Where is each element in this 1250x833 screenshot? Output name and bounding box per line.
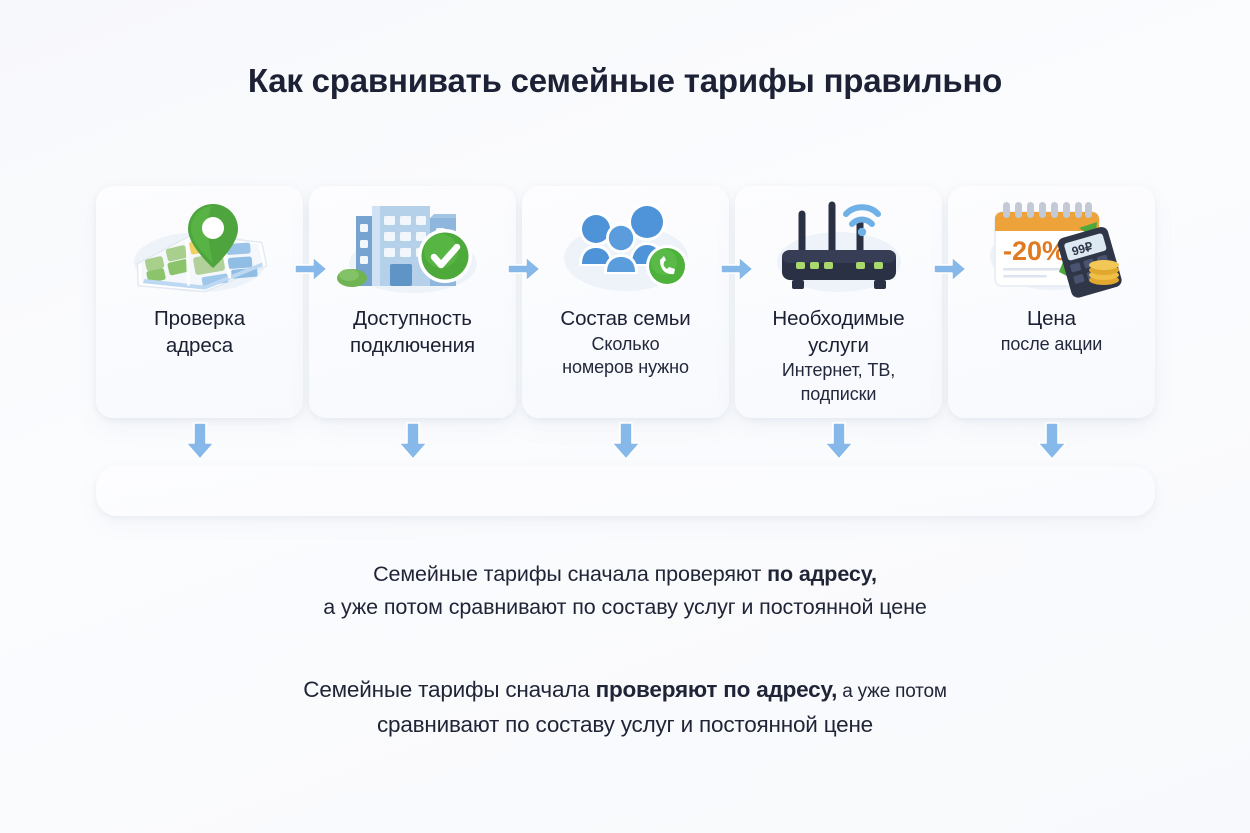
step-card-family-text: Состав семьи Сколько номеров нужно (528, 306, 724, 379)
arrow-down-icon-4 (822, 421, 856, 461)
step-card-price-text: Цена после акции (954, 306, 1150, 356)
svg-text:-20%: -20% (1003, 236, 1066, 266)
step-card-services-text: Необходимые услуги Интернет, ТВ, подписк… (741, 306, 937, 406)
card-title-line2: подключения (315, 333, 511, 360)
page-title: Как сравнивать семейные тарифы правильно (0, 62, 1250, 100)
router-wifi-icon (754, 194, 924, 302)
arrow-down-icon-1 (183, 421, 217, 461)
family-phone-icon (541, 194, 711, 302)
calendar-discount-icon: -20% 99₽ (967, 194, 1137, 302)
map-pin-icon (115, 194, 285, 302)
arrow-down-icon-2 (396, 421, 430, 461)
card-title-line1: Состав семьи (528, 306, 724, 333)
summary-a-line1: Семейные тарифы сначала проверяют по адр… (0, 558, 1250, 591)
steps-row: Проверка адреса (96, 186, 1155, 418)
summary-a-line2: а уже потом сравнивают по составу услуг … (0, 591, 1250, 624)
summary-a-line1-plain: Семейные тарифы сначала проверяют (373, 562, 767, 586)
card-sub-line1: Сколько (528, 333, 724, 356)
card-title-line1: Необходимые (741, 306, 937, 333)
arrow-down-icon-3 (609, 421, 643, 461)
step-card-services[interactable]: Необходимые услуги Интернет, ТВ, подписк… (735, 186, 942, 418)
summary-b-tail: а уже потом (837, 681, 947, 702)
summary-bar[interactable] (96, 466, 1155, 516)
card-sub-line1: после акции (954, 333, 1150, 356)
summary-b-strong: проверяют по адресу, (596, 677, 838, 702)
card-sub-line1: Интернет, ТВ, (741, 359, 937, 382)
card-sub-line2: подписки (741, 383, 937, 406)
card-title-line1: Проверка (102, 306, 298, 333)
building-check-icon (328, 194, 498, 302)
summary-b-line2: сравнивают по составу услуг и постоянной… (225, 707, 1025, 742)
card-title-line2: услуги (741, 333, 937, 360)
step-card-family[interactable]: Состав семьи Сколько номеров нужно (522, 186, 729, 418)
step-card-availability-text: Доступность подключения (315, 306, 511, 359)
step-card-address-text: Проверка адреса (102, 306, 298, 359)
step-card-price[interactable]: -20% 99₽ (948, 186, 1155, 418)
step-card-address[interactable]: Проверка адреса (96, 186, 303, 418)
card-title-line1: Доступность (315, 306, 511, 333)
card-title-line2: адреса (102, 333, 298, 360)
step-card-availability[interactable]: Доступность подключения (309, 186, 516, 418)
summary-b-lead: Семейные тарифы сначала (303, 677, 595, 702)
arrow-down-icon-5 (1035, 421, 1069, 461)
summary-a-line1-bold: по адресу, (767, 562, 877, 586)
summary-paragraph-secondary: Семейные тарифы сначала проверяют по адр… (225, 672, 1025, 742)
card-title-line1: Цена (954, 306, 1150, 333)
summary-paragraph-primary: Семейные тарифы сначала проверяют по адр… (0, 558, 1250, 623)
card-sub-line2: номеров нужно (528, 356, 724, 379)
summary-b-line1: Семейные тарифы сначала проверяют по адр… (225, 672, 1025, 707)
